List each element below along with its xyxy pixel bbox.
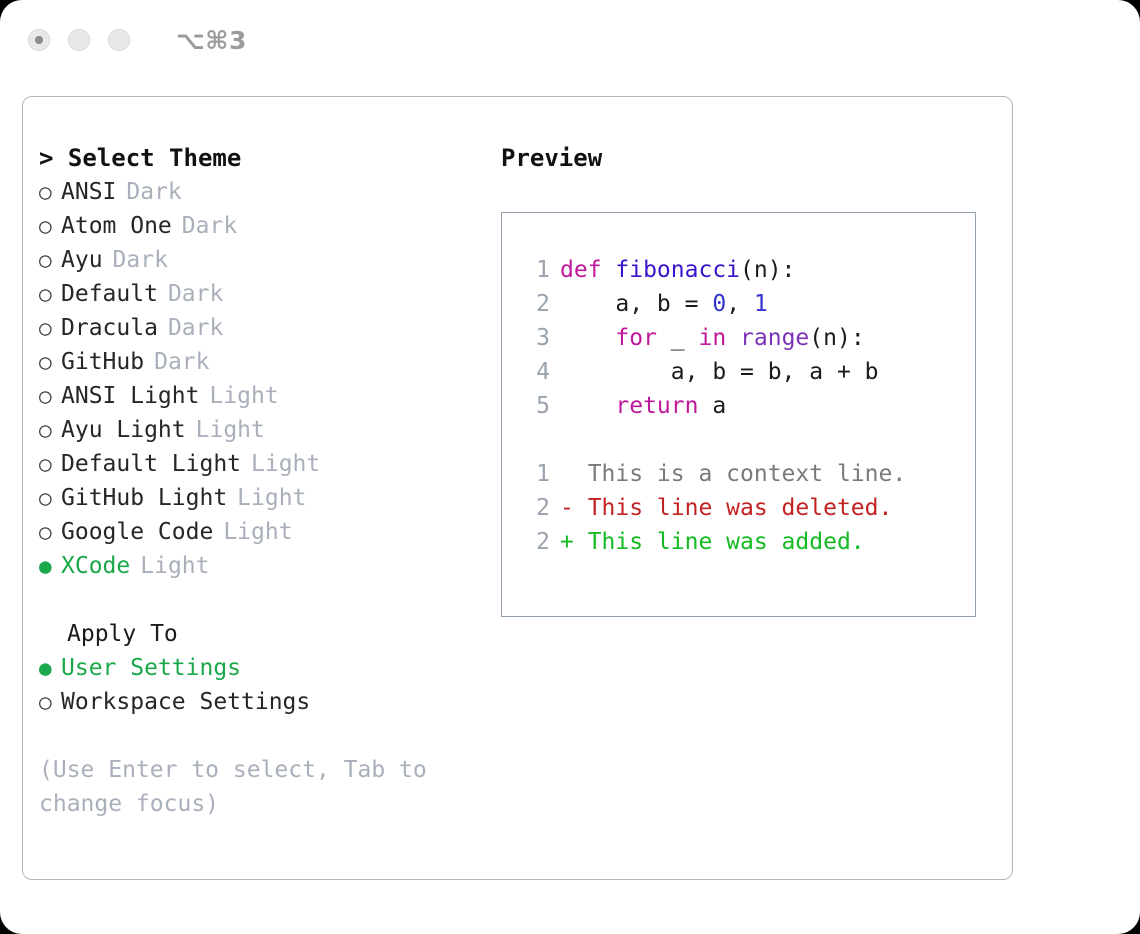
theme-item-google-code[interactable]: ○Google CodeLight [39,515,489,549]
theme-item-kind-badge: Light [196,413,265,447]
line-number: 2 [516,491,550,525]
theme-list: ○ANSIDark○Atom OneDark○AyuDark○DefaultDa… [39,175,489,583]
code-token: range [740,321,809,355]
apply-to-option-label: Workspace Settings [61,685,310,719]
code-token [726,321,740,355]
apply-to-heading: Apply To [39,617,489,651]
apply-to-option-user-settings[interactable]: ●User Settings [39,651,489,685]
code-token: + This line was added. [560,525,865,559]
theme-item-kind-badge: Dark [168,277,223,311]
radio-selected-icon: ● [39,549,61,583]
line-number: 4 [516,355,550,389]
apply-to-option-workspace-settings[interactable]: ○Workspace Settings [39,685,489,719]
line-number: 2 [516,287,550,321]
code-line: 1def fibonacci(n): [516,253,975,287]
code-token: 0 [712,287,726,321]
theme-item-default-light[interactable]: ○Default LightLight [39,447,489,481]
radio-unselected-icon: ○ [39,413,61,447]
radio-unselected-icon: ○ [39,447,61,481]
radio-unselected-icon: ○ [39,345,61,379]
code-token: _ [657,321,699,355]
radio-unselected-icon: ○ [39,277,61,311]
theme-item-label: Default Light [61,447,241,481]
list-spacer [39,583,489,617]
theme-item-label: Ayu [61,243,103,277]
radio-unselected-icon: ○ [39,481,61,515]
theme-item-label: GitHub [61,345,144,379]
theme-item-kind-badge: Light [237,481,306,515]
radio-unselected-icon: ○ [39,311,61,345]
radio-unselected-icon: ○ [39,209,61,243]
code-token: (n): [740,253,795,287]
line-number: 1 [516,253,550,287]
code-token: , [726,287,754,321]
app-window: ⌥⌘3 > Select Theme ○ANSIDark○Atom OneDar… [0,0,1140,934]
code-diff-gap [516,423,975,457]
theme-item-label: ANSI Light [61,379,199,413]
code-preview-box: 1def fibonacci(n):2 a, b = 0, 13 for _ i… [501,212,976,617]
radio-selected-icon: ● [39,651,61,685]
radio-unselected-icon: ○ [39,243,61,277]
radio-unselected-icon: ○ [39,175,61,209]
theme-item-atom-one[interactable]: ○Atom OneDark [39,209,489,243]
theme-item-label: Atom One [61,209,172,243]
code-token: for [615,321,657,355]
theme-item-label: GitHub Light [61,481,227,515]
theme-item-xcode[interactable]: ●XCodeLight [39,549,489,583]
diff-line: 1 This is a context line. [516,457,975,491]
diff-sample: 1 This is a context line.2- This line wa… [516,457,975,559]
code-line: 3 for _ in range(n): [516,321,975,355]
theme-item-kind-badge: Dark [126,175,181,209]
code-token: fibonacci [615,253,740,287]
theme-item-label: XCode [61,549,130,583]
code-token: a, b = b, a + b [560,355,879,389]
theme-item-kind-badge: Light [140,549,209,583]
theme-item-label: Default [61,277,158,311]
code-sample: 1def fibonacci(n):2 a, b = 0, 13 for _ i… [516,253,975,423]
theme-item-ayu-light[interactable]: ○Ayu LightLight [39,413,489,447]
apply-to-option-label: User Settings [61,651,241,685]
theme-item-label: ANSI [61,175,116,209]
theme-item-kind-badge: Light [223,515,292,549]
theme-item-default[interactable]: ○DefaultDark [39,277,489,311]
window-light-dot-icon [35,36,43,44]
code-token: (n): [809,321,864,355]
theme-item-ansi[interactable]: ○ANSIDark [39,175,489,209]
code-line: 5 return a [516,389,975,423]
select-theme-heading: > Select Theme [39,141,489,175]
theme-item-kind-badge: Dark [154,345,209,379]
theme-selector-column: > Select Theme ○ANSIDark○Atom OneDark○Ay… [39,141,489,821]
window-light-2-icon[interactable] [68,29,90,51]
preview-heading: Preview [501,141,1001,175]
code-token: return [615,389,698,423]
theme-item-github-light[interactable]: ○GitHub LightLight [39,481,489,515]
theme-item-ayu[interactable]: ○AyuDark [39,243,489,277]
line-number: 3 [516,321,550,355]
radio-unselected-icon: ○ [39,685,61,719]
keyboard-shortcut-label: ⌥⌘3 [176,26,247,55]
theme-item-ansi-light[interactable]: ○ANSI LightLight [39,379,489,413]
theme-item-kind-badge: Dark [113,243,168,277]
window-light-active-icon[interactable] [28,29,50,51]
theme-item-label: Google Code [61,515,213,549]
code-line: 4 a, b = b, a + b [516,355,975,389]
title-bar: ⌥⌘3 [0,0,1140,80]
window-light-3-icon[interactable] [108,29,130,51]
diff-line: 2- This line was deleted. [516,491,975,525]
theme-item-kind-badge: Dark [182,209,237,243]
theme-item-label: Ayu Light [61,413,186,447]
code-token [560,389,615,423]
preview-column: Preview 1def fibonacci(n):2 a, b = 0, 13… [501,141,1001,617]
code-token: def [560,253,615,287]
main-panel: > Select Theme ○ANSIDark○Atom OneDark○Ay… [22,96,1013,880]
keyboard-hint-text: (Use Enter to select, Tab to change focu… [39,753,449,821]
theme-item-kind-badge: Light [251,447,320,481]
code-token: a [698,389,726,423]
code-token [560,321,615,355]
theme-item-kind-badge: Light [209,379,278,413]
line-number: 1 [516,457,550,491]
radio-unselected-icon: ○ [39,515,61,549]
radio-unselected-icon: ○ [39,379,61,413]
code-line: 2 a, b = 0, 1 [516,287,975,321]
apply-to-list: ●User Settings○Workspace Settings [39,651,489,719]
code-token: - This line was deleted. [560,491,892,525]
theme-item-github[interactable]: ○GitHubDark [39,345,489,379]
theme-item-dracula[interactable]: ○DraculaDark [39,311,489,345]
line-number: 5 [516,389,550,423]
code-token: in [698,321,726,355]
theme-item-kind-badge: Dark [168,311,223,345]
code-token: 1 [754,287,768,321]
panel-columns: > Select Theme ○ANSIDark○Atom OneDark○Ay… [23,97,1012,879]
theme-item-label: Dracula [61,311,158,345]
diff-line: 2+ This line was added. [516,525,975,559]
line-number: 2 [516,525,550,559]
code-token: This is a context line. [560,457,906,491]
window-controls [28,29,130,51]
code-token: a, b = [560,287,712,321]
